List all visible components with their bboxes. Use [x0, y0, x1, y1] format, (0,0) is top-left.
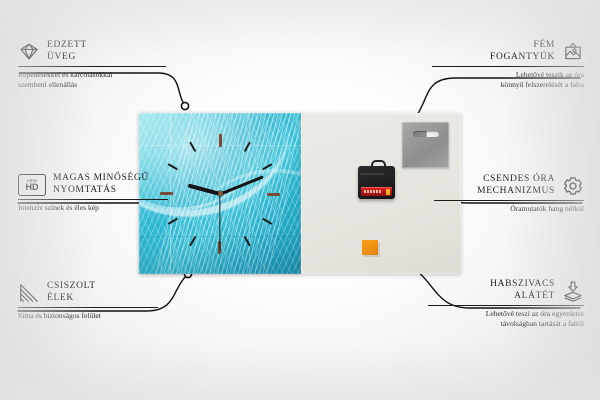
callout-divider	[428, 305, 584, 306]
callout-header: FÉM FOGANTYÚK	[432, 40, 584, 63]
hanger-slot	[413, 131, 439, 137]
mechanism-hook	[371, 160, 386, 170]
callout-foam-pad: HABSZIVACS ALÁTÉT Lehetővé teszi az óra …	[428, 279, 584, 328]
metal-hanger-plate	[402, 122, 449, 168]
gear-icon	[562, 175, 584, 197]
callout-divider	[432, 66, 584, 67]
callout-header: CSISZOLT ÉLEK	[18, 281, 158, 304]
callout-title: FÉM FOGANTYÚK	[490, 40, 555, 63]
callout-header: ultra HD MAGAS MINŐSÉGŰ NYOMTATÁS	[18, 173, 168, 196]
callout-title: CSENDES ÓRA MECHANIZMUS	[477, 174, 555, 197]
callout-title: MAGAS MINŐSÉGŰ NYOMTATÁS	[53, 173, 149, 196]
ultra-hd-badge-bottom: HD	[26, 183, 39, 192]
clock-tick	[220, 193, 280, 195]
product-wall-clock	[139, 113, 461, 274]
callout-print-quality: ultra HD MAGAS MINŐSÉGŰ NYOMTATÁS Intenz…	[18, 173, 168, 213]
ultra-hd-icon: ultra HD	[18, 174, 46, 196]
callout-title: CSISZOLT ÉLEK	[47, 281, 96, 304]
callout-divider	[18, 66, 166, 67]
battery-tip	[386, 189, 390, 195]
polished-edge-icon	[18, 282, 40, 304]
mechanism-ridge	[360, 173, 384, 175]
callout-tempered-glass: EDZETT ÜVEG Repedésekkel és karcolásokka…	[18, 40, 166, 89]
foam-layers-icon	[562, 280, 584, 302]
clock-tick	[219, 134, 221, 194]
callout-description: Óramutatók hang nélkül	[434, 204, 584, 214]
callout-polished-edges: CSISZOLT ÉLEK Sima és biztonságos felüle…	[18, 281, 158, 321]
diamond-icon	[18, 41, 40, 63]
callout-divider	[18, 199, 168, 200]
callout-header: HABSZIVACS ALÁTÉT	[428, 279, 584, 302]
callout-metal-handles: FÉM FOGANTYÚK Lehetővé teszik az óra kön…	[432, 40, 584, 89]
callout-description: Intenzív színek és éles kép	[18, 203, 168, 213]
foam-pad	[362, 240, 378, 255]
callout-divider	[434, 200, 584, 201]
callout-header: CSENDES ÓRA MECHANIZMUS	[434, 174, 584, 197]
infographic-canvas: EDZETT ÜVEG Repedésekkel és karcolásokka…	[0, 0, 600, 400]
callout-description: Lehetővé teszi az óra egyenletes távolsá…	[428, 309, 584, 328]
callout-title: EDZETT ÜVEG	[47, 40, 87, 63]
callout-divider	[18, 307, 158, 308]
callout-header: EDZETT ÜVEG	[18, 40, 166, 63]
leader-dot-glass	[181, 102, 188, 109]
battery	[361, 187, 392, 196]
quartz-mechanism	[358, 166, 395, 199]
callout-description: Lehetővé teszik az óra könnyű felszerelé…	[432, 70, 584, 89]
battery-label	[364, 190, 382, 193]
callout-description: Repedésekkel és karcolásokkal szembeni e…	[18, 70, 166, 89]
callout-silent-mechanism: CSENDES ÓRA MECHANIZMUS Óramutatók hang …	[434, 174, 584, 214]
hand-center-cap	[218, 191, 223, 196]
callout-description: Sima és biztonságos felület	[18, 311, 158, 321]
callout-title: HABSZIVACS ALÁTÉT	[490, 279, 555, 302]
hanging-frame-icon	[562, 41, 584, 63]
